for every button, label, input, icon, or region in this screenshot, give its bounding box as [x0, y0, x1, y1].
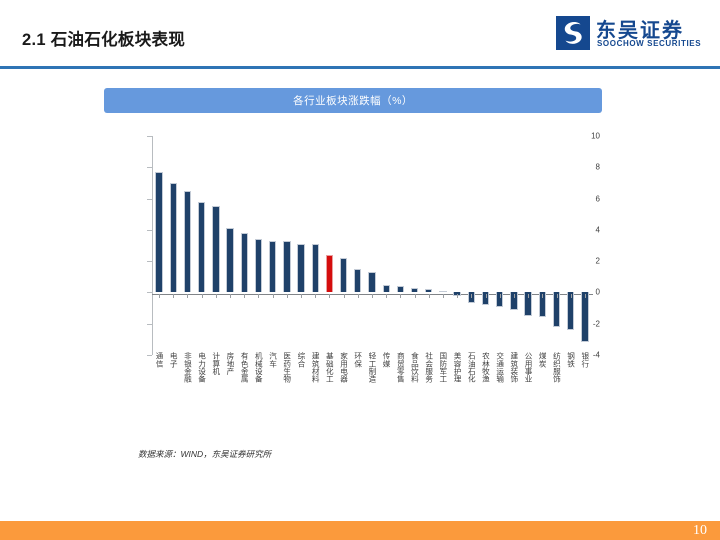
bar [297, 244, 304, 292]
y-axis-tick-mark [147, 261, 152, 262]
x-axis-tick-label: 非银金融 [183, 352, 191, 382]
x-axis-tick-label: 建筑装饰 [509, 352, 517, 382]
bar [198, 202, 205, 293]
x-axis-tick-label: 交通运输 [495, 352, 503, 382]
x-axis-tick-label: 医药生物 [282, 352, 290, 382]
x-axis-tick-label: 有色金属 [240, 352, 248, 382]
x-axis-tick-mark [443, 294, 444, 298]
x-axis-tick-label: 公用事业 [524, 352, 532, 382]
bar [269, 241, 276, 293]
x-axis-tick-label: 电子 [169, 352, 177, 367]
bar [241, 233, 248, 292]
x-axis-tick-mark [500, 294, 501, 298]
x-axis-tick-mark [287, 294, 288, 298]
x-axis-tick-mark [329, 294, 330, 298]
x-axis-tick-label: 环保 [353, 352, 361, 367]
x-axis-tick-mark [202, 294, 203, 298]
x-axis-tick-label: 农林牧渔 [481, 352, 489, 382]
x-axis-tick-label: 机械设备 [254, 352, 262, 382]
x-axis-tick-label: 美容护理 [453, 352, 461, 382]
x-axis-tick-mark [273, 294, 274, 298]
y-axis-tick-label: 8 [574, 163, 600, 172]
x-axis-tick-label: 银行 [580, 352, 588, 367]
x-axis-tick-mark [315, 294, 316, 298]
x-axis-tick-label: 计算机 [211, 352, 219, 375]
bar [368, 272, 375, 292]
y-axis-tick-label: 6 [574, 194, 600, 203]
x-axis-tick-label: 纺织服饰 [552, 352, 560, 382]
x-axis-tick-mark [244, 294, 245, 298]
bar [425, 289, 432, 292]
bar-highlighted [326, 255, 333, 293]
x-axis-tick-label: 轻工制造 [368, 352, 376, 382]
page-number: 10 [693, 521, 707, 540]
bar [155, 172, 162, 292]
y-axis-tick-label: 4 [574, 225, 600, 234]
y-axis-tick-label: 10 [574, 132, 600, 141]
x-axis-tick-mark [471, 294, 472, 298]
x-axis-tick-mark [415, 294, 416, 298]
logo-english-name: SOOCHOW SECURITIES [597, 39, 701, 48]
x-axis-tick-label: 社会服务 [424, 352, 432, 382]
bar [354, 269, 361, 292]
x-axis-tick-mark [372, 294, 373, 298]
slide-header: 2.1 石油石化板块表现 东吴证券 SOOCHOW SECURITIES [0, 0, 720, 68]
y-axis-tick-mark [147, 230, 152, 231]
x-axis-tick-label: 家用电器 [339, 352, 347, 382]
industry-performance-bar-chart: -4-20246810通信电子非银金融电力设备计算机房地产有色金属机械设备汽车医… [120, 126, 600, 426]
source-note: 数据来源：WIND，东吴证券研究所 [138, 448, 271, 460]
x-axis-tick-mark [542, 294, 543, 298]
swoosh-logo-icon [556, 16, 590, 50]
header-divider [0, 66, 720, 69]
y-axis-tick-mark [147, 136, 152, 137]
x-axis-tick-label: 基础化工 [325, 352, 333, 382]
bar [283, 241, 290, 293]
x-axis-tick-label: 综合 [297, 352, 305, 367]
x-axis-tick-mark [386, 294, 387, 298]
x-axis-tick-label: 国防军工 [438, 352, 446, 382]
bar [184, 191, 191, 293]
page-title: 2.1 石油石化板块表现 [22, 26, 185, 50]
bar [255, 239, 262, 292]
x-axis-tick-mark [358, 294, 359, 298]
x-axis-tick-label: 食品饮料 [410, 352, 418, 382]
y-axis-tick-label: 2 [574, 257, 600, 266]
x-axis-tick-mark [400, 294, 401, 298]
x-axis-tick-mark [187, 294, 188, 298]
x-axis-tick-mark [344, 294, 345, 298]
x-axis-tick-label: 电力设备 [197, 352, 205, 382]
x-axis-tick-label: 传媒 [382, 352, 390, 367]
bar [411, 288, 418, 293]
x-axis-tick-label: 建筑材料 [311, 352, 319, 382]
y-axis-tick-mark [147, 292, 152, 293]
footer-bar [0, 521, 720, 540]
bar [383, 285, 390, 293]
x-axis-tick-mark [301, 294, 302, 298]
x-axis-tick-mark [514, 294, 515, 298]
x-axis-tick-label: 通信 [155, 352, 163, 367]
chart-title: 各行业板块涨跌幅（%） [293, 93, 413, 108]
x-axis-tick-mark [571, 294, 572, 298]
y-axis-tick-mark [147, 167, 152, 168]
bar [397, 286, 404, 292]
bar [340, 258, 347, 292]
x-axis-tick-mark [216, 294, 217, 298]
bar [170, 183, 177, 293]
company-logo: 东吴证券 SOOCHOW SECURITIES [556, 14, 704, 56]
bar [567, 292, 574, 330]
x-axis-tick-mark [173, 294, 174, 298]
x-axis-tick-mark [557, 294, 558, 298]
x-axis-tick-mark [429, 294, 430, 298]
x-axis-tick-label: 汽车 [268, 352, 276, 367]
x-axis-tick-label: 商贸零售 [396, 352, 404, 382]
x-axis-tick-mark [528, 294, 529, 298]
bar [581, 292, 588, 342]
y-axis-tick-mark [147, 324, 152, 325]
x-axis-tick-mark [159, 294, 160, 298]
bar [439, 291, 446, 293]
slide-root: 2.1 石油石化板块表现 东吴证券 SOOCHOW SECURITIES 各行业… [0, 0, 720, 540]
bar [312, 244, 319, 292]
y-axis-tick-mark [147, 199, 152, 200]
x-axis-tick-mark [457, 294, 458, 298]
x-axis-tick-label: 煤炭 [538, 352, 546, 367]
x-axis-tick-mark [486, 294, 487, 298]
bar [212, 206, 219, 292]
x-axis-tick-mark [230, 294, 231, 298]
x-axis-tick-label: 钢铁 [566, 352, 574, 367]
x-axis-tick-label: 石油石化 [467, 352, 475, 382]
x-axis-tick-mark [585, 294, 586, 298]
chart-title-banner: 各行业板块涨跌幅（%） [104, 88, 602, 113]
x-axis-tick-label: 房地产 [226, 352, 234, 375]
y-axis-tick-mark [147, 355, 152, 356]
x-axis-tick-mark [258, 294, 259, 298]
bar [226, 228, 233, 292]
